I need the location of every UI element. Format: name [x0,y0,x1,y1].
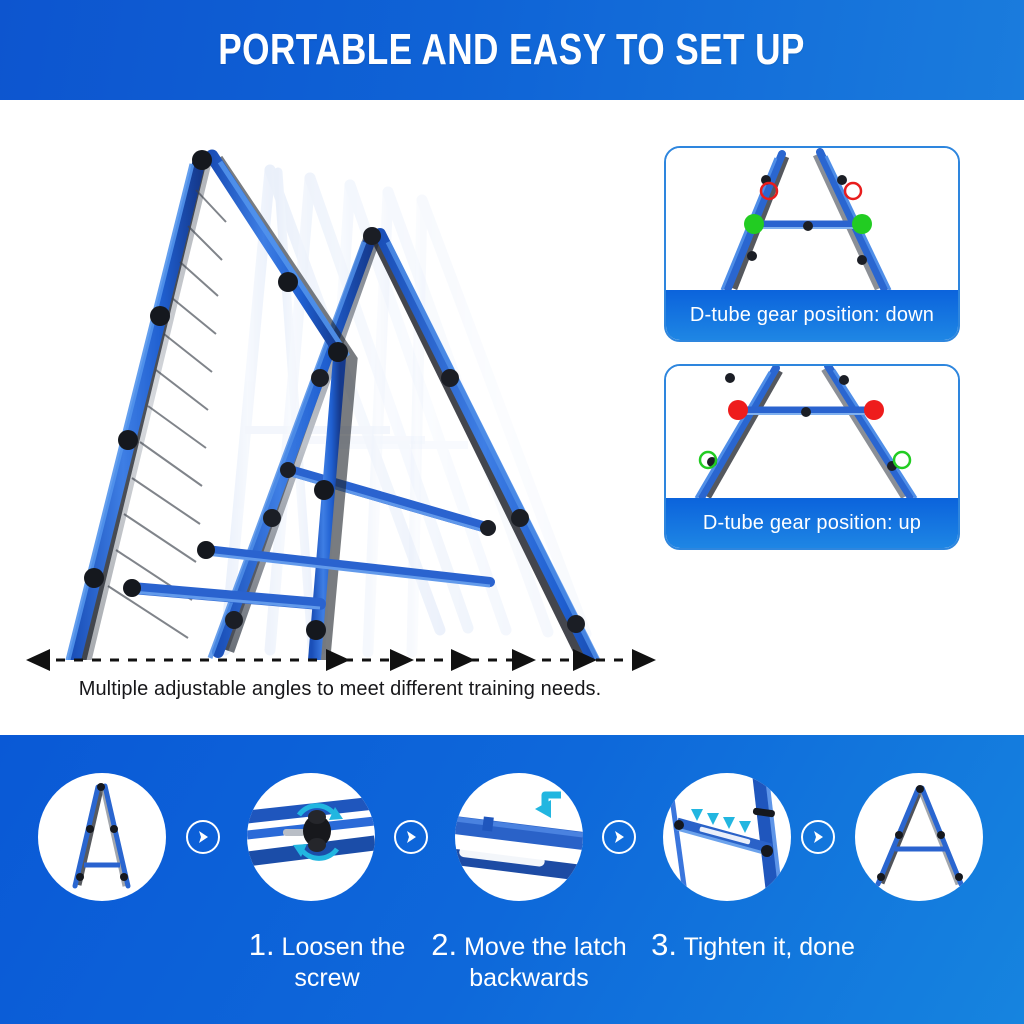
chevron-right-icon [801,820,835,854]
chevron-right-icon [602,820,636,854]
marker-red-left [728,400,748,420]
gear-down-figure [666,148,958,290]
step-number-2: 2. [431,927,457,962]
step-label-3: 3. Tighten it, done [648,927,858,964]
angle-caption: Multiple adjustable angles to meet diffe… [20,678,660,701]
step-text-2: Move the latch backwards [457,933,627,992]
marker-green-outline-right [894,452,910,468]
step-circle-frame-folded [38,773,166,901]
infographic-page: PORTABLE AND EASY TO SET UP [0,0,1024,1024]
step-number-1: 1. [249,927,275,962]
step-text-3: Tighten it, done [677,933,855,961]
marker-green-right [852,214,872,234]
marker-red-outline-right [845,183,861,199]
chevron-right-icon [394,820,428,854]
step-circle-move-latch [455,773,583,901]
chevron-right-icon [186,820,220,854]
gear-down-caption: D-tube gear position: down [666,290,958,340]
main-content-area: Multiple adjustable angles to meet diffe… [0,100,1024,735]
step-circle-tighten [663,773,791,901]
hero-product-image [20,130,660,660]
step-label-2: 2. Move the latch backwards [424,927,634,993]
marker-green-left [744,214,764,234]
step-circle-loosen-screw [247,773,375,901]
gear-up-caption: D-tube gear position: up [666,498,958,548]
step-circle-frame-done [855,773,983,901]
marker-red-right [864,400,884,420]
angle-range-arrow [20,640,660,680]
step-text-1: Loosen the screw [275,933,406,992]
step-number-3: 3. [651,927,677,962]
steps-section: 1. Loosen the screw 2. Move the latch ba… [0,735,1024,1024]
detail-panel-gear-down: D-tube gear position: down [664,146,960,342]
page-title: PORTABLE AND EASY TO SET UP [219,25,805,75]
gear-up-figure [666,366,958,498]
header-banner: PORTABLE AND EASY TO SET UP [0,0,1024,100]
step-label-1: 1. Loosen the screw [222,927,432,993]
detail-panel-gear-up: D-tube gear position: up [664,364,960,550]
